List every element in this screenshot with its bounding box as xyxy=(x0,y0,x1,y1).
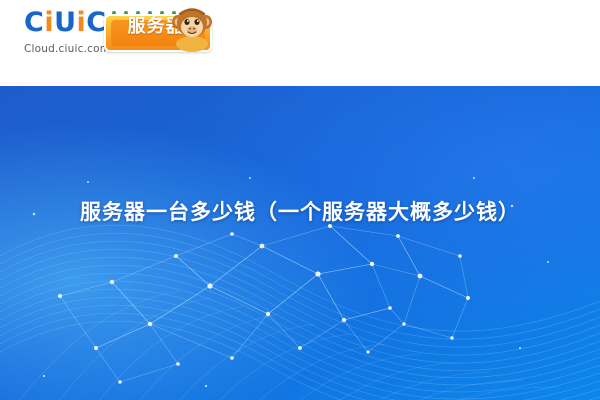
hero-title: 服务器一台多少钱（一个服务器大概多少钱） xyxy=(0,196,600,226)
hero-banner: 服务器一台多少钱（一个服务器大概多少钱） xyxy=(0,86,600,400)
network-mesh-artwork xyxy=(0,86,600,400)
top-banner: CiUiC Cloud.ciuic.com 服务器 xyxy=(0,0,600,86)
image-canvas: CiUiC Cloud.ciuic.com 服务器 xyxy=(0,0,600,400)
server-badge: 服务器 xyxy=(104,8,216,54)
monkey-mascot-icon xyxy=(166,4,218,52)
